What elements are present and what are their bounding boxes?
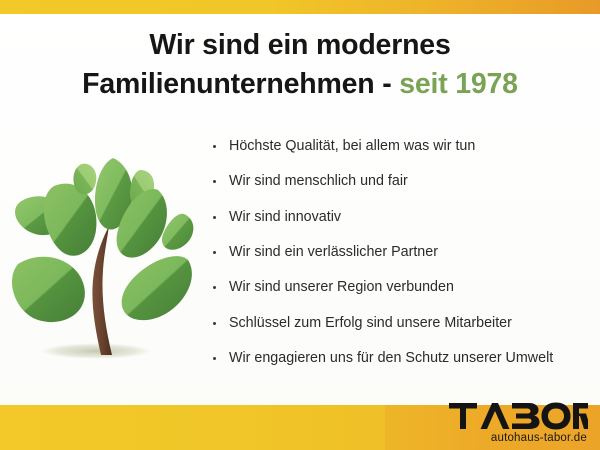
- list-item: Höchste Qualität, bei allem was wir tun: [208, 138, 598, 155]
- headline-line-1: Wir sind ein modernes: [149, 29, 450, 61]
- list-item: Wir sind unserer Region verbunden: [208, 279, 598, 296]
- list-item: Wir sind ein verlässlicher Partner: [208, 244, 598, 261]
- leaf: [162, 214, 193, 250]
- tree-shadow: [40, 343, 152, 359]
- headline-line-2-prefix: Familienunternehmen -: [82, 68, 399, 100]
- tabor-wordmark-icon[interactable]: [448, 401, 588, 431]
- tree-illustration: [8, 148, 194, 374]
- tree-icon: [8, 148, 194, 374]
- list-item: Wir engagieren uns für den Schutz unsere…: [208, 350, 598, 367]
- leaf: [44, 184, 97, 256]
- value-bullet-list: Höchste Qualität, bei allem was wir tun …: [208, 138, 598, 385]
- leaf: [73, 164, 96, 195]
- list-item: Wir sind menschlich und fair: [208, 173, 598, 190]
- slide-canvas: Wir sind ein modernes Familienunternehme…: [0, 0, 600, 450]
- leaf: [12, 257, 85, 322]
- list-item: Wir sind innovativ: [208, 209, 598, 226]
- page-title: Wir sind ein modernes Familienunternehme…: [0, 26, 600, 105]
- headline-line-2: Familienunternehmen - seit 1978: [0, 65, 600, 104]
- brand-logo[interactable]: autohaus-tabor.de: [438, 401, 588, 444]
- brand-url-label[interactable]: autohaus-tabor.de: [438, 432, 588, 444]
- list-item: Schlüssel zum Erfolg sind unsere Mitarbe…: [208, 315, 598, 332]
- leaf: [122, 256, 192, 320]
- headline-accent-year: seit 1978: [399, 68, 518, 100]
- tree-trunk: [92, 226, 112, 355]
- top-accent-bar: [0, 0, 600, 14]
